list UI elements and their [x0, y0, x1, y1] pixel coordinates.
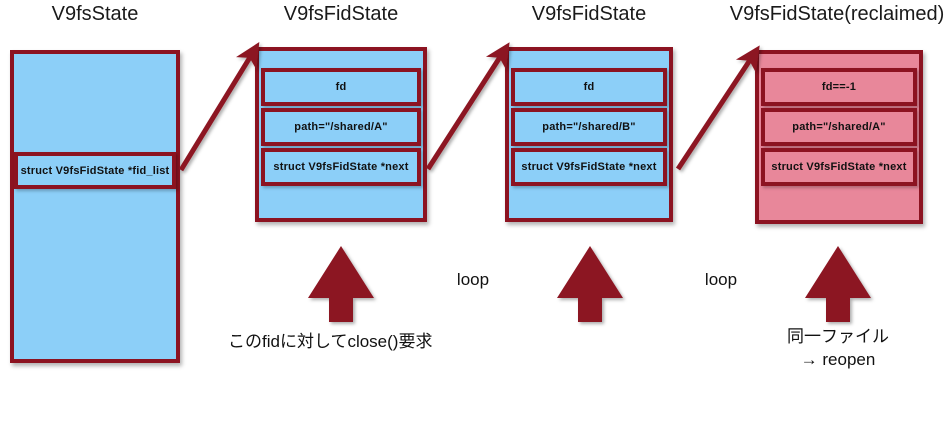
link-arrow-fidlist-to-a — [181, 54, 252, 170]
field-fid-list: struct V9fsFidState *fid_list — [14, 152, 176, 189]
struct-title-fidstate-b: V9fsFidState — [505, 4, 673, 24]
field-path-b: path="/shared/B" — [511, 108, 667, 146]
field-path-reclaimed: path="/shared/A" — [761, 108, 917, 146]
caption-same-file: 同一ファイル — [758, 322, 918, 347]
link-arrow-a-to-b — [428, 54, 502, 169]
caption-close-request: このfidに対してclose()要求 — [228, 327, 432, 352]
struct-title-v9fsstate: V9fsState — [10, 4, 180, 24]
field-next-reclaimed: struct V9fsFidState *next — [761, 148, 917, 186]
diagram-canvas: V9fsState struct V9fsFidState *fid_list … — [0, 0, 952, 425]
field-path-a: path="/shared/A" — [261, 108, 421, 146]
struct-title-fidstate-reclaimed: V9fsFidState(reclaimed) — [722, 4, 952, 24]
field-fd-a: fd — [261, 68, 421, 106]
link-arrow-b-to-reclaimed — [678, 57, 752, 169]
loop-label-1: loop — [418, 270, 528, 290]
field-next-a: struct V9fsFidState *next — [261, 148, 421, 186]
up-arrow-close-request — [308, 246, 374, 322]
up-arrow-middle — [557, 246, 623, 322]
struct-title-fidstate-a: V9fsFidState — [255, 4, 427, 24]
field-fd-reclaimed: fd==-1 — [761, 68, 917, 106]
loop-label-2: loop — [666, 270, 776, 290]
up-arrow-reopen — [805, 246, 871, 322]
struct-box-v9fsstate — [10, 50, 180, 363]
caption-reopen: → reopen — [758, 350, 918, 370]
field-next-b: struct V9fsFidState *next — [511, 148, 667, 186]
field-fd-b: fd — [511, 68, 667, 106]
